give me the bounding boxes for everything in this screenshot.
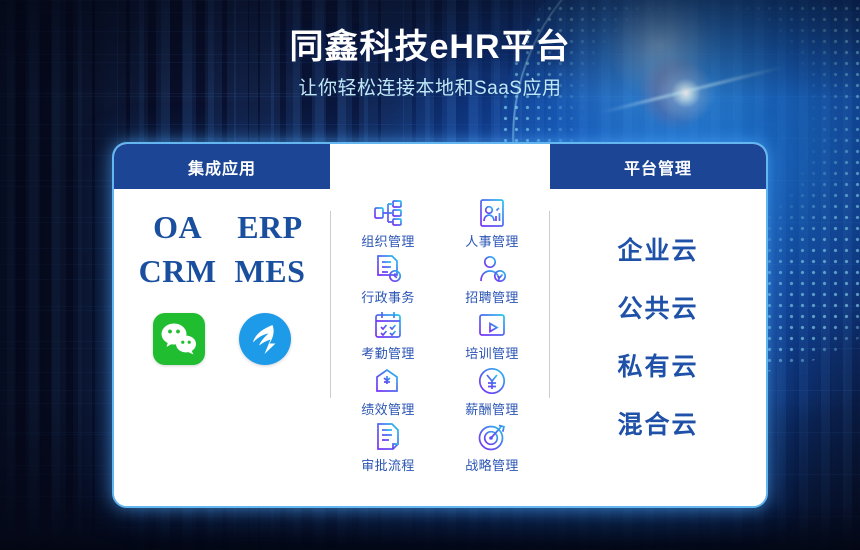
divider-right — [549, 211, 550, 398]
module-label: 考勤管理 — [361, 343, 415, 362]
page-header: 同鑫科技eHR平台 让你轻松连接本地和SaaS应用 — [0, 26, 860, 100]
performance-chart-icon — [372, 365, 404, 397]
target-dart-icon — [476, 421, 508, 453]
module-item[interactable]: 人事管理 — [440, 197, 544, 250]
approval-doc-icon — [372, 421, 404, 453]
org-chart-icon — [372, 197, 404, 229]
module-label: 绩效管理 — [361, 399, 415, 418]
module-item[interactable]: 薪酬管理 — [440, 365, 544, 418]
module-label: 培训管理 — [465, 343, 519, 362]
app-word-mes[interactable]: MES — [235, 251, 306, 291]
cloud-item-hybrid[interactable]: 混合云 — [617, 405, 698, 441]
module-label: 审批流程 — [361, 455, 415, 474]
module-label: 组织管理 — [361, 231, 415, 250]
app-word-oa[interactable]: OA — [139, 207, 217, 247]
tab-bar: 集成应用 平台管理 — [114, 144, 766, 189]
divider-left — [330, 211, 331, 398]
yuan-circle-icon — [476, 365, 508, 397]
page-title: 同鑫科技eHR平台 — [0, 26, 860, 69]
integrated-apps-panel: OA ERP CRM MES — [114, 189, 330, 508]
document-clock-icon — [372, 253, 404, 285]
video-play-icon — [476, 309, 508, 341]
tab-platform-management[interactable]: 平台管理 — [550, 144, 766, 189]
person-check-icon — [476, 253, 508, 285]
app-word-crm[interactable]: CRM — [139, 251, 217, 291]
module-item[interactable]: 培训管理 — [440, 309, 544, 362]
modules-grid: 组织管理 人事管理 — [330, 197, 550, 474]
module-item[interactable]: 绩效管理 — [336, 365, 440, 418]
module-item[interactable]: 考勤管理 — [336, 309, 440, 362]
card-body: OA ERP CRM MES — [114, 189, 766, 508]
tab-integrated-apps-label: 集成应用 — [188, 155, 256, 179]
module-label: 人事管理 — [465, 231, 519, 250]
platform-management-panel: 企业云 公共云 私有云 混合云 — [550, 189, 766, 508]
module-label: 招聘管理 — [465, 287, 519, 306]
cloud-item-enterprise[interactable]: 企业云 — [617, 231, 698, 267]
module-item[interactable]: 组织管理 — [336, 197, 440, 250]
cloud-item-public[interactable]: 公共云 — [617, 289, 698, 325]
dingtalk-logo-icon[interactable] — [239, 313, 291, 365]
module-label: 战略管理 — [465, 455, 519, 474]
platform-card: 集成应用 平台管理 OA ERP CRM MES — [112, 142, 768, 508]
module-label: 行政事务 — [361, 287, 415, 306]
tab-modules[interactable] — [330, 144, 550, 189]
personnel-card-icon — [476, 197, 508, 229]
page-subtitle: 让你轻松连接本地和SaaS应用 — [0, 73, 860, 100]
module-item[interactable]: 行政事务 — [336, 253, 440, 306]
wechat-logo-icon[interactable] — [153, 313, 205, 365]
module-item[interactable]: 审批流程 — [336, 421, 440, 474]
integrated-apps-logos — [153, 313, 291, 365]
module-label: 薪酬管理 — [465, 399, 519, 418]
calendar-check-icon — [372, 309, 404, 341]
tab-integrated-apps[interactable]: 集成应用 — [114, 144, 330, 189]
bottom-fade — [0, 504, 860, 550]
tab-platform-management-label: 平台管理 — [624, 155, 692, 179]
integrated-apps-wordmarks: OA ERP CRM MES — [139, 207, 306, 291]
module-item[interactable]: 招聘管理 — [440, 253, 544, 306]
module-item[interactable]: 战略管理 — [440, 421, 544, 474]
cloud-item-private[interactable]: 私有云 — [617, 347, 698, 383]
app-word-erp[interactable]: ERP — [235, 207, 306, 247]
modules-panel: 组织管理 人事管理 — [330, 189, 550, 508]
